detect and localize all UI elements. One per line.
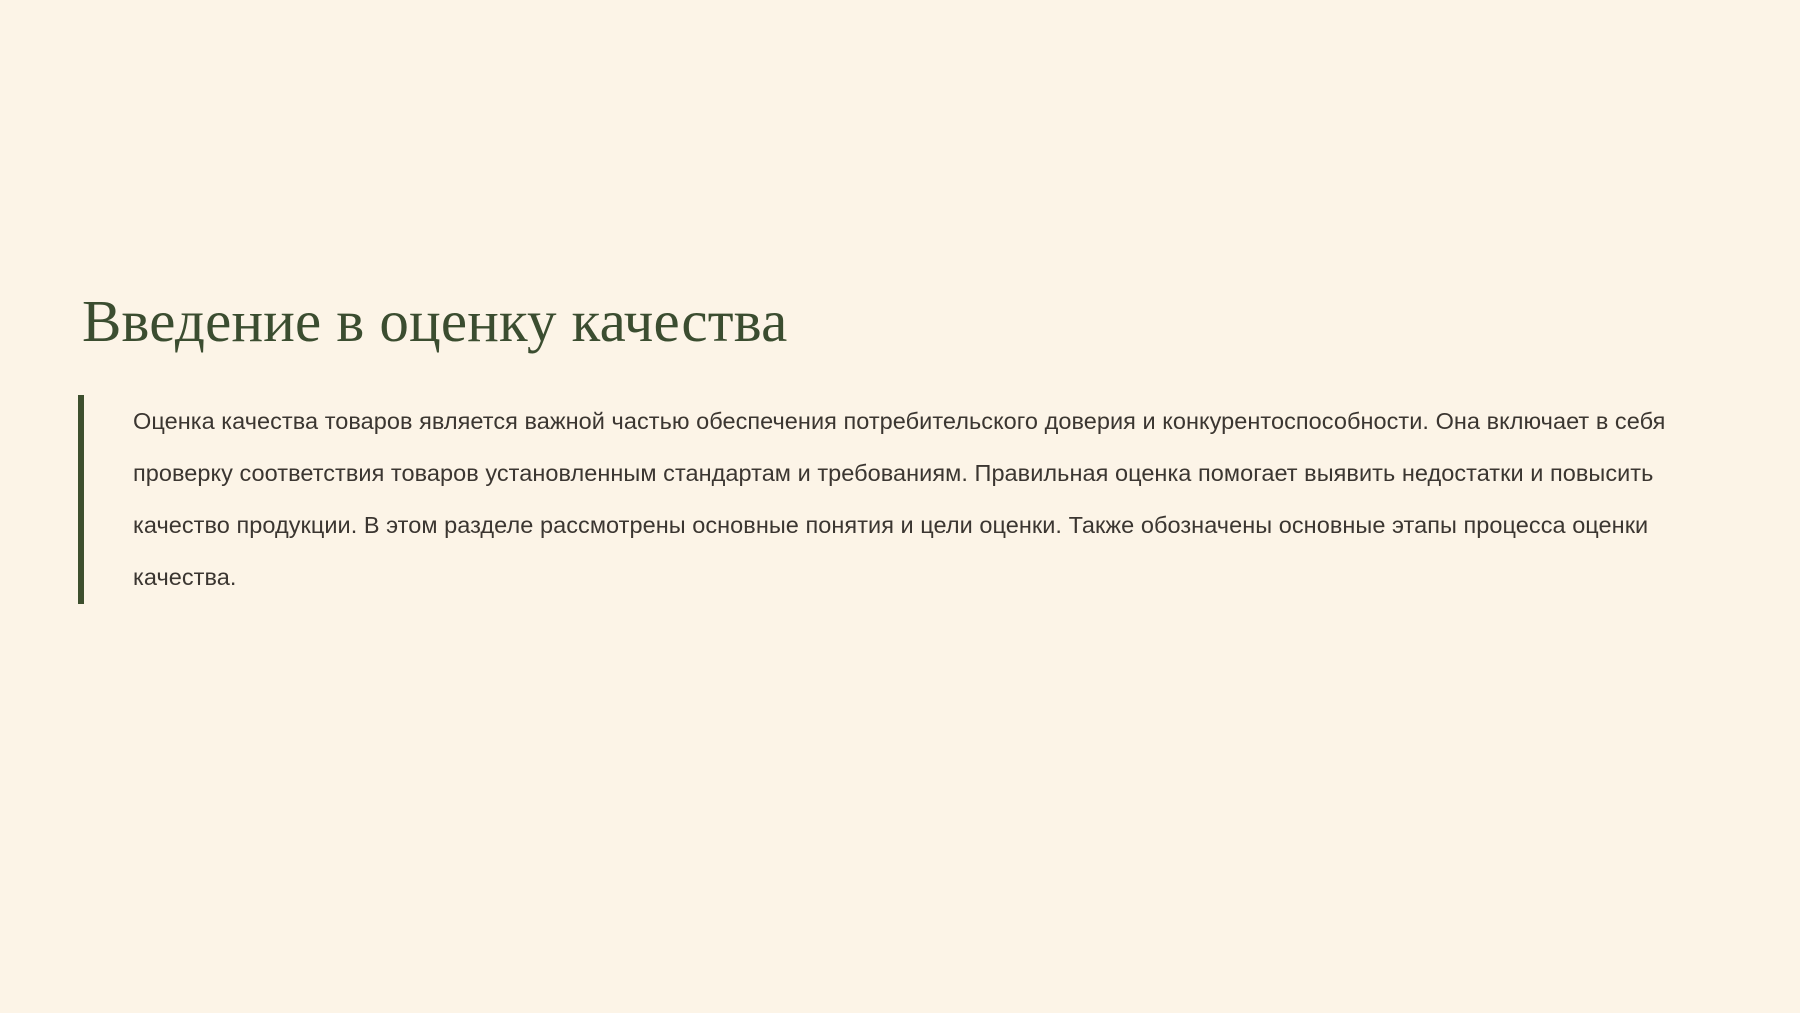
blockquote: Оценка качества товаров является важной …: [78, 395, 1718, 604]
page-title: Введение в оценку качества: [82, 290, 1718, 354]
blockquote-body: Оценка качества товаров является важной …: [84, 395, 1718, 604]
body-paragraph: Оценка качества товаров является важной …: [133, 395, 1711, 604]
content-block: Введение в оценку качества Оценка качест…: [78, 290, 1718, 604]
slide-canvas: Введение в оценку качества Оценка качест…: [0, 0, 1800, 1013]
